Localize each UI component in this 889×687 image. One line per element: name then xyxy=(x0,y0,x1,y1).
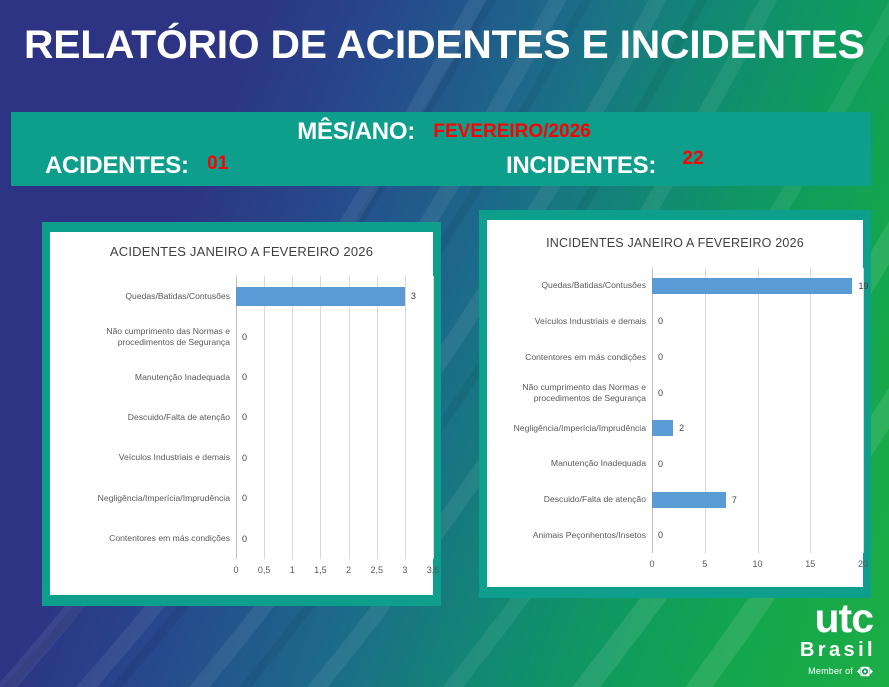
bar xyxy=(652,492,726,508)
category-label: Quedas/Batidas/Contusões xyxy=(50,291,236,302)
bar-value-label: 0 xyxy=(242,412,247,422)
bar-value-label: 2 xyxy=(679,423,684,433)
bar-track: 0 xyxy=(236,316,433,356)
bar-value-label: 7 xyxy=(732,495,737,505)
category-label: Descuido/Falta de atenção xyxy=(50,412,236,423)
category-label: Contentores em más condições xyxy=(50,533,236,544)
bar-value-label: 19 xyxy=(858,281,868,291)
bar-track: 0 xyxy=(652,517,863,553)
report-slide: RELATÓRIO DE ACIDENTES E INCIDENTES MÊS/… xyxy=(0,0,889,687)
chart-bar-row: Descuido/Falta de atenção7 xyxy=(487,482,863,518)
month-year-row: MÊS/ANO: FEVEREIRO/2026 xyxy=(11,118,871,146)
bar-track: 0 xyxy=(236,397,433,437)
bar-track: 0 xyxy=(652,446,863,482)
accidents-chart-plate: ACIDENTES JANEIRO A FEVEREIRO 2026 Queda… xyxy=(50,232,433,595)
incidents-plot-area: Quedas/Batidas/Contusões19Veículos Indus… xyxy=(487,268,863,579)
accidents-chart-card: ACIDENTES JANEIRO A FEVEREIRO 2026 Queda… xyxy=(42,222,441,606)
accidents-count-row: ACIDENTES: 01 xyxy=(45,152,228,180)
category-label: Manutenção Inadequada xyxy=(487,458,652,469)
x-axis-tick-label: 20 xyxy=(858,559,868,569)
x-axis-tick-label: 0 xyxy=(649,559,654,569)
bar-track: 0 xyxy=(652,339,863,375)
member-org-icon xyxy=(857,666,873,677)
bar-value-label: 0 xyxy=(242,453,247,463)
category-label: Não cumprimento das Normas e procediment… xyxy=(487,382,652,404)
x-axis-tick-label: 0,5 xyxy=(258,565,271,575)
bar-track: 19 xyxy=(652,268,868,304)
incidents-chart-card: INCIDENTES JANEIRO A FEVEREIRO 2026 Qued… xyxy=(479,210,871,598)
gridline xyxy=(433,276,434,559)
category-label: Quedas/Batidas/Contusões xyxy=(487,280,652,291)
logo-country-text: Brasil xyxy=(800,640,876,660)
bar-value-label: 0 xyxy=(658,352,663,362)
chart-bar-row: Não cumprimento das Normas e procediment… xyxy=(50,316,433,356)
x-axis-tick-label: 15 xyxy=(805,559,815,569)
page-title: RELATÓRIO DE ACIDENTES E INCIDENTES xyxy=(24,16,887,74)
x-axis-tick-label: 1,5 xyxy=(314,565,327,575)
x-axis-tick-label: 2,5 xyxy=(370,565,383,575)
category-label: Manutenção Inadequada xyxy=(50,372,236,383)
member-of-label: Member of xyxy=(808,667,853,676)
x-axis-tick-label: 5 xyxy=(702,559,707,569)
accidents-value: 01 xyxy=(207,153,228,174)
incidents-chart-plate: INCIDENTES JANEIRO A FEVEREIRO 2026 Qued… xyxy=(487,220,863,587)
bar-value-label: 0 xyxy=(658,316,663,326)
incidents-chart-title: INCIDENTES JANEIRO A FEVEREIRO 2026 xyxy=(487,236,863,250)
chart-bar-row: Quedas/Batidas/Contusões3 xyxy=(50,276,433,316)
chart-bar-row: Manutenção Inadequada0 xyxy=(487,446,863,482)
utc-brasil-logo: utc Brasil Member of xyxy=(800,598,873,677)
x-axis-tick-label: 3,5 xyxy=(427,565,440,575)
incidents-bar-rows: Quedas/Batidas/Contusões19Veículos Indus… xyxy=(487,268,863,553)
bar-value-label: 0 xyxy=(658,530,663,540)
category-label: Descuido/Falta de atenção xyxy=(487,494,652,505)
accidents-chart-title: ACIDENTES JANEIRO A FEVEREIRO 2026 xyxy=(50,244,433,259)
bar-value-label: 0 xyxy=(658,459,663,469)
bar-value-label: 0 xyxy=(242,493,247,503)
accidents-plot-area: Quedas/Batidas/Contusões3Não cumprimento… xyxy=(50,276,433,585)
chart-bar-row: Não cumprimento das Normas e procediment… xyxy=(487,375,863,411)
bar-track: 0 xyxy=(652,304,863,340)
category-label: Não cumprimento das Normas e procediment… xyxy=(50,326,236,348)
bar-track: 0 xyxy=(236,519,433,559)
x-axis-tick-label: 0 xyxy=(233,565,238,575)
chart-bar-row: Contentores em más condições0 xyxy=(487,339,863,375)
category-label: Veículos Industriais e demais xyxy=(487,316,652,327)
bar-track: 0 xyxy=(236,438,433,478)
bar-track: 0 xyxy=(236,478,433,518)
chart-bar-row: Contentores em más condições0 xyxy=(50,519,433,559)
chart-bar-row: Descuido/Falta de atenção0 xyxy=(50,397,433,437)
bar-track: 7 xyxy=(652,482,863,518)
category-label: Negligência/Imperícia/Imprudência xyxy=(487,423,652,434)
logo-brand-text: utc xyxy=(800,598,873,639)
bar-track: 3 xyxy=(236,276,433,316)
x-axis-tick-label: 3 xyxy=(402,565,407,575)
chart-bar-row: Veículos Industriais e demais0 xyxy=(487,304,863,340)
accidents-bar-rows: Quedas/Batidas/Contusões3Não cumprimento… xyxy=(50,276,433,559)
bar-track: 2 xyxy=(652,411,863,447)
chart-bar-row: Negligência/Imperícia/Imprudência0 xyxy=(50,478,433,518)
incidents-label: INCIDENTES: xyxy=(506,152,656,179)
bar-value-label: 0 xyxy=(242,332,247,342)
category-label: Negligência/Imperícia/Imprudência xyxy=(50,493,236,504)
month-year-label: MÊS/ANO: xyxy=(297,118,415,145)
x-axis-tick-label: 2 xyxy=(346,565,351,575)
category-label: Animais Peçonhentos/Insetos xyxy=(487,530,652,541)
bar-value-label: 0 xyxy=(242,372,247,382)
chart-bar-row: Quedas/Batidas/Contusões19 xyxy=(487,268,863,304)
chart-bar-row: Animais Peçonhentos/Insetos0 xyxy=(487,517,863,553)
chart-bar-row: Negligência/Imperícia/Imprudência2 xyxy=(487,411,863,447)
incidents-count-row: INCIDENTES: 22 xyxy=(506,152,704,180)
bar xyxy=(652,278,852,294)
x-axis-tick-label: 1 xyxy=(290,565,295,575)
bar-value-label: 0 xyxy=(658,388,663,398)
bar-track: 0 xyxy=(236,357,433,397)
bar xyxy=(236,287,405,306)
x-axis-tick-label: 10 xyxy=(752,559,762,569)
accidents-label: ACIDENTES: xyxy=(45,152,189,179)
bar-track: 0 xyxy=(652,375,863,411)
summary-banner: MÊS/ANO: FEVEREIRO/2026 ACIDENTES: 01 IN… xyxy=(11,112,871,186)
incidents-x-axis: 05101520 xyxy=(487,553,863,577)
month-year-value: FEVEREIRO/2026 xyxy=(433,121,590,142)
chart-bar-row: Manutenção Inadequada0 xyxy=(50,357,433,397)
incidents-value: 22 xyxy=(683,148,704,169)
accidents-x-axis: 00,511,522,533,5 xyxy=(50,559,433,583)
chart-bar-row: Veículos Industriais e demais0 xyxy=(50,438,433,478)
category-label: Contentores em más condições xyxy=(487,352,652,363)
category-label: Veículos Industriais e demais xyxy=(50,452,236,463)
gridline xyxy=(863,268,864,553)
bar-value-label: 0 xyxy=(242,534,247,544)
bar-value-label: 3 xyxy=(411,291,416,301)
logo-member-line: Member of xyxy=(800,666,873,677)
bar xyxy=(652,420,673,436)
